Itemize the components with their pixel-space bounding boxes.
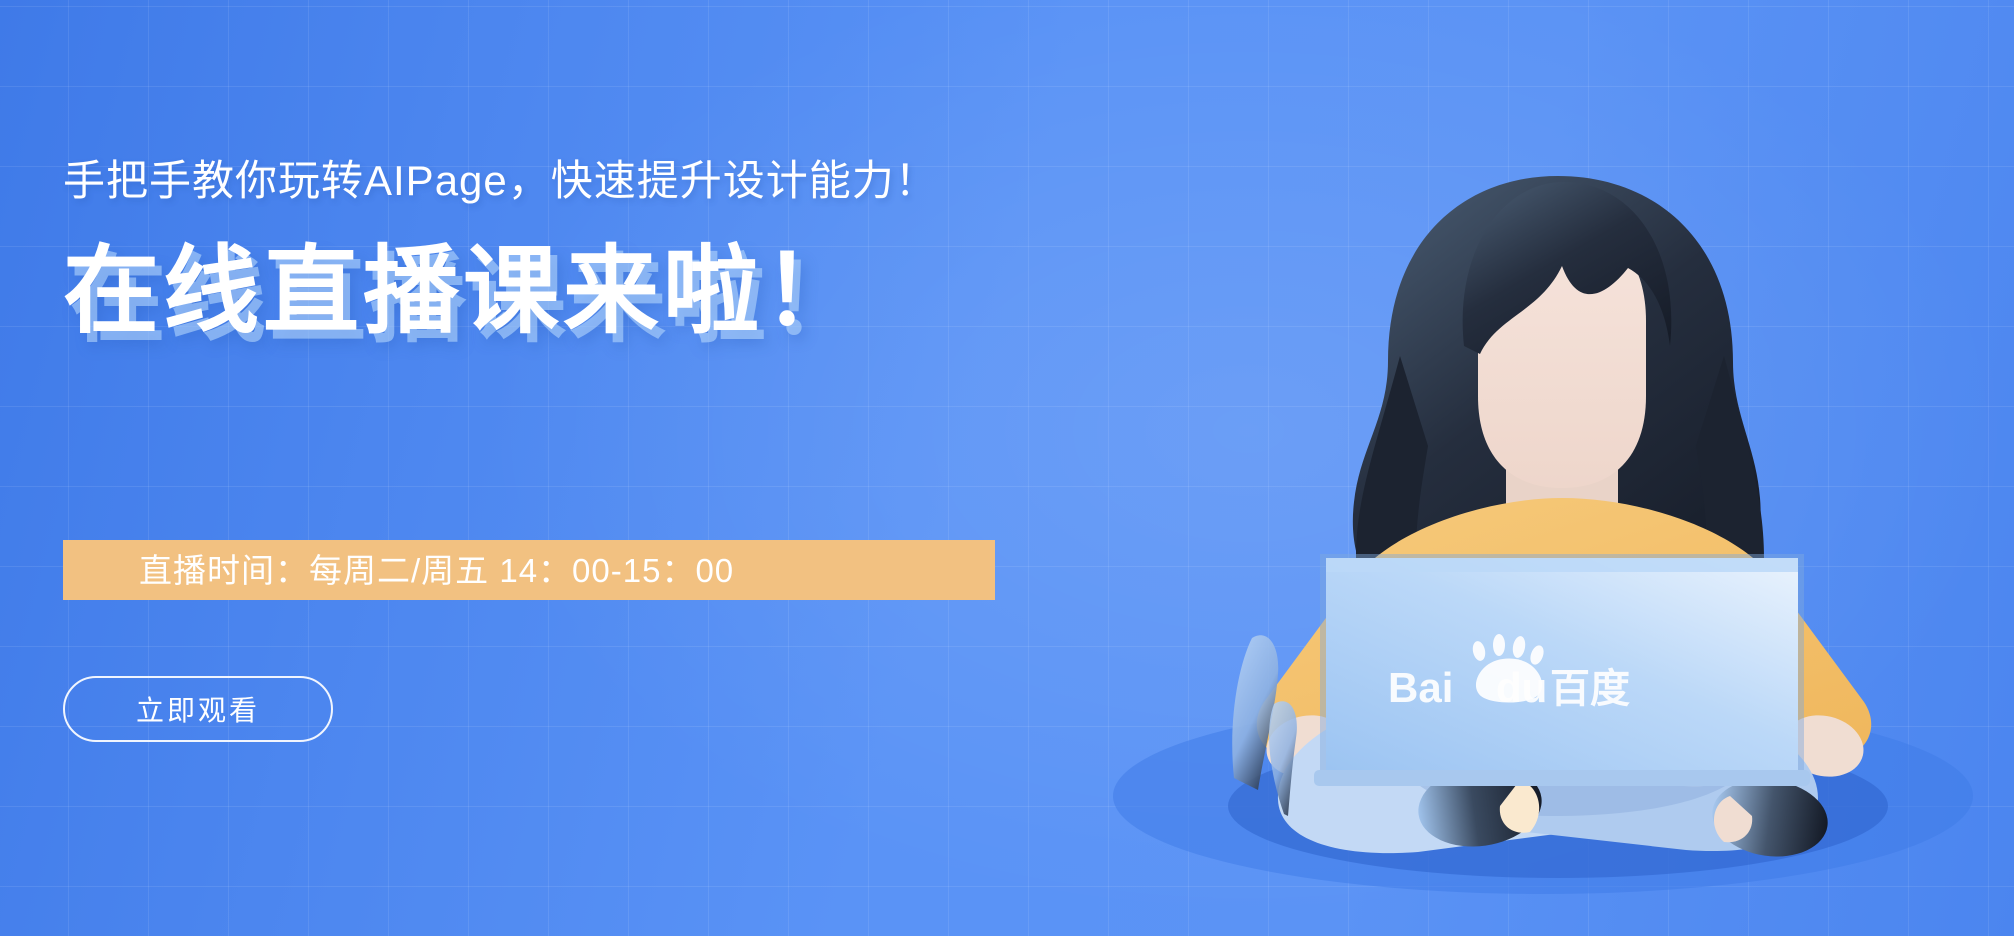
baidu-logo-latin-tail: du (1496, 664, 1547, 711)
promo-title: 在线直播课来啦！ (63, 244, 1163, 340)
schedule-badge: 直播时间：每周二/周五 14：00-15：00 (63, 540, 995, 600)
schedule-text: 直播时间：每周二/周五 14：00-15：00 (139, 554, 734, 587)
watch-now-button[interactable]: 立即观看 (63, 676, 333, 742)
laptop-base (1314, 770, 1810, 786)
baidu-logo-latin: Bai (1388, 664, 1453, 711)
baidu-wordmark: Bai du 百度 (1388, 664, 1630, 711)
live-class-promo-banner: 手把手教你玩转AIPage，快速提升设计能力！ 在线直播课来啦！ 直播时间：每周… (0, 0, 2014, 936)
laptop-screen-bezel-top (1326, 558, 1798, 572)
promo-subtitle: 手把手教你玩转AIPage，快速提升设计能力！ (63, 160, 1163, 202)
laptop: Bai du 百度 (1314, 554, 1810, 786)
baidu-logo-cn: 百度 (1550, 667, 1630, 711)
promo-copy-block: 手把手教你玩转AIPage，快速提升设计能力！ 在线直播课来啦！ (63, 160, 1163, 340)
hero-illustration: Bai du 百度 (1088, 146, 1988, 936)
